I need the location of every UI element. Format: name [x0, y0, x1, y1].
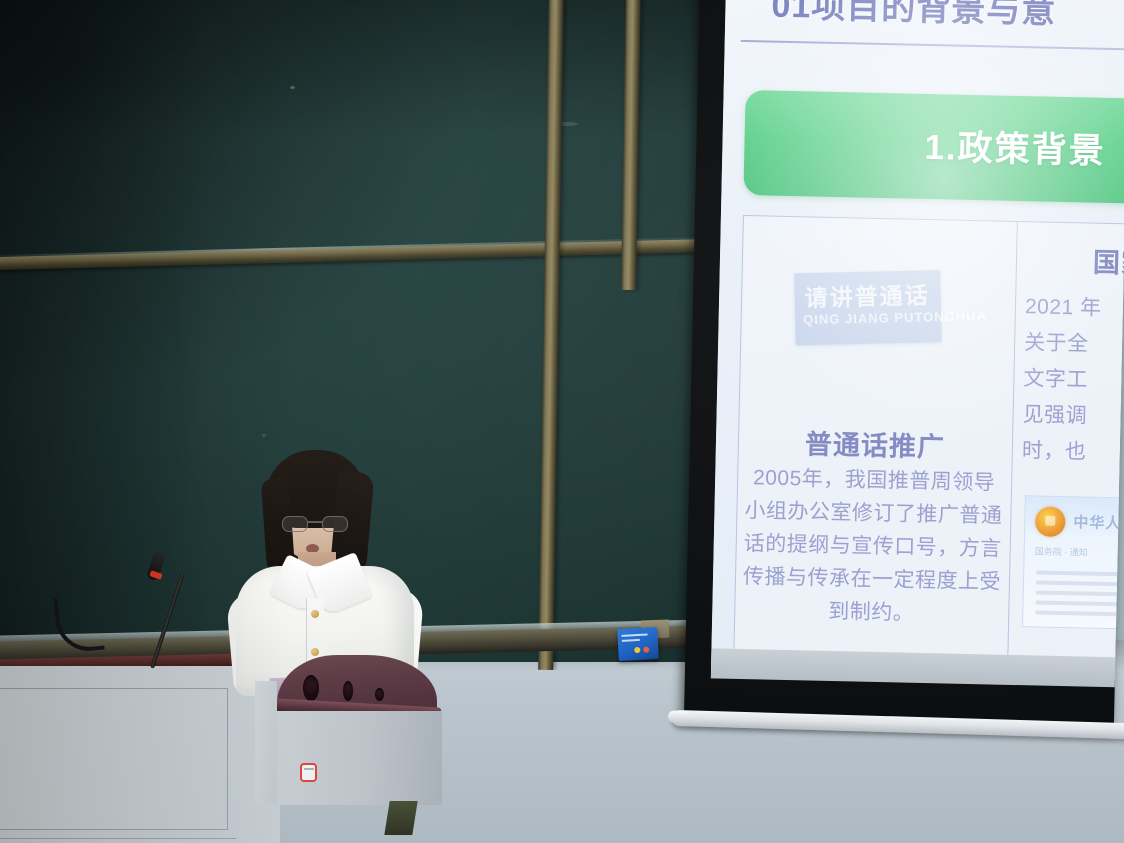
desk-front-panel: [0, 688, 228, 830]
podium: [267, 655, 442, 805]
screen-roller-cap: [668, 710, 690, 723]
glasses-bridge: [308, 521, 322, 523]
chalk-box-line: [622, 639, 640, 642]
glasses-lens-left: [282, 516, 308, 532]
left-card-body: 2005年，我国推普周领导小组办公室修订了推广普通话的提纲与宣传口号，方言传播与…: [740, 461, 1006, 632]
podium-body: [275, 711, 442, 805]
presentation-slide: 01项目的背景与意 1.政策背景 请讲普通话 QING JIANG PUTONG…: [711, 0, 1124, 679]
government-document-image: 中华人 国务院 · 通知: [1022, 495, 1124, 631]
document-text-line: [1035, 610, 1124, 616]
title-underline: [741, 40, 1124, 51]
document-text-line: [1036, 570, 1124, 577]
right-card-heading: 国家: [1026, 239, 1124, 282]
right-card-body: 2021 年 关于全 文字工 见强调 时，也: [1021, 289, 1124, 476]
podium-warning-label: [300, 763, 317, 782]
mandarin-poster-image: 请讲普通话 QING JIANG PUTONGHUA: [794, 270, 942, 345]
document-text-line: [1036, 580, 1124, 588]
classroom-presentation-photo: 01项目的背景与意 1.政策背景 请讲普通话 QING JIANG PUTONG…: [0, 0, 1124, 843]
projector-screen-canvas: 01项目的背景与意 1.政策背景 请讲普通话 QING JIANG PUTONG…: [711, 0, 1124, 679]
chalk-box-line: [621, 633, 647, 636]
slide-banner-heading: 1.政策背景: [924, 119, 1106, 174]
national-emblem-icon: [1035, 506, 1066, 537]
left-card-heading: 普通话推广: [744, 421, 1007, 466]
slide-card-right: 国家 2021 年 关于全 文字工 见强调 时，也 中华人 国务院 · 通知: [1017, 227, 1124, 663]
slide-card-left: 请讲普通话 QING JIANG PUTONGHUA 普通话推广 2005年，我…: [739, 221, 1010, 657]
chalk-speck: [262, 434, 266, 437]
mandarin-poster-cn-text: 请讲普通话: [804, 276, 930, 313]
podium-cable-hole: [343, 681, 353, 701]
chalk-box[interactable]: [617, 627, 659, 661]
document-text-line: [1036, 600, 1124, 607]
document-title-text: 中华人: [1073, 511, 1121, 533]
slide-banner: 1.政策背景: [743, 90, 1124, 204]
document-text-line: [1036, 590, 1124, 597]
desk-seam: [0, 838, 236, 839]
chalk-box-dot: [634, 647, 640, 653]
document-subtitle-text: 国务院 · 通知: [1035, 544, 1088, 558]
podium-cable-hole: [303, 675, 319, 701]
mandarin-poster-en-text: QING JIANG PUTONGHUA: [803, 308, 987, 327]
glasses-lens-right: [322, 516, 348, 532]
podium-side-panel: [255, 681, 277, 805]
chalk-speck: [290, 86, 295, 89]
podium-leg: [384, 801, 417, 835]
slide-section-title: 01项目的背景与意: [771, 0, 1124, 35]
shirt-button: [311, 610, 319, 618]
podium-label-line: [304, 768, 314, 770]
projector-screen: 01项目的背景与意 1.政策背景 请讲普通话 QING JIANG PUTONG…: [683, 0, 1124, 761]
podium-cable-hole: [375, 688, 384, 701]
chalk-box-dot: [643, 646, 649, 652]
glasses-icon: [280, 516, 352, 532]
